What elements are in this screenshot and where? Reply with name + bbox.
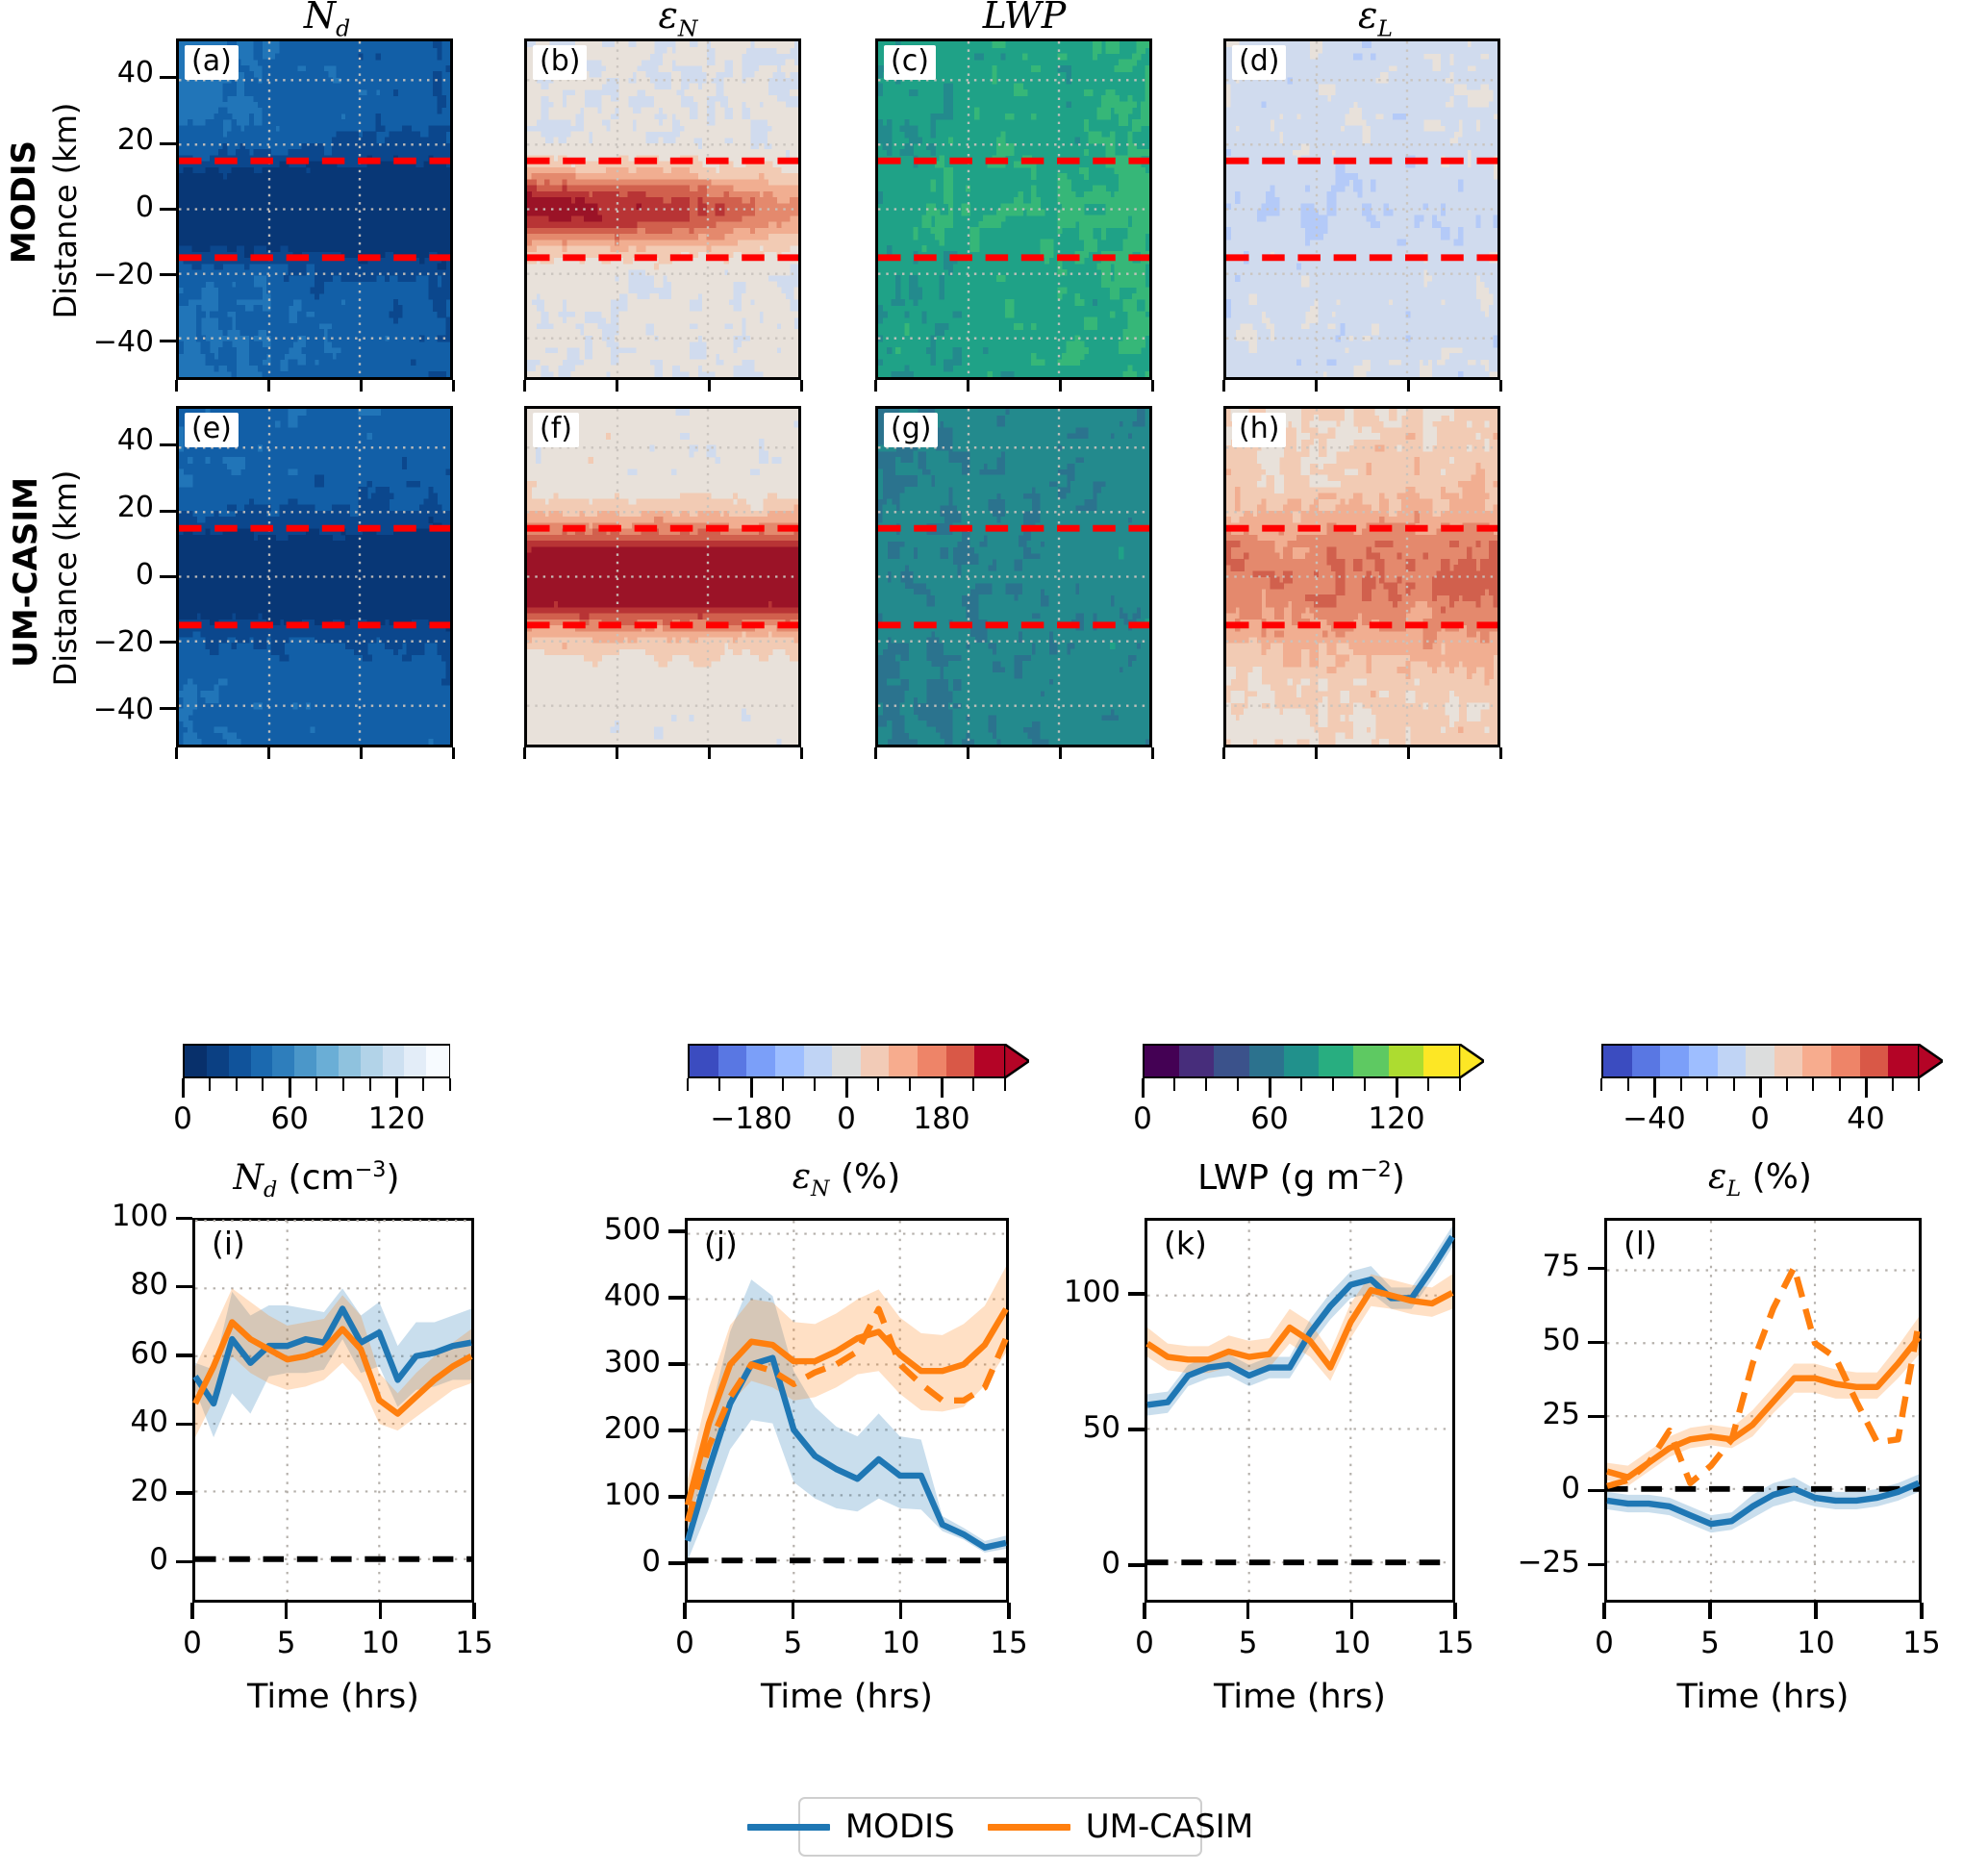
x-tickmark <box>175 747 178 759</box>
y-tickmark <box>176 1560 192 1564</box>
figure-legend[interactable]: MODIS UM-CASIM <box>798 1797 1202 1857</box>
contour-panel-c: (c) <box>875 38 1152 380</box>
y-tickmark <box>668 1561 685 1565</box>
colorbar-tick <box>1427 1078 1429 1091</box>
colorbar-segment <box>1660 1046 1689 1076</box>
colorbar-tick <box>1364 1078 1366 1091</box>
x-tickmark <box>175 380 178 392</box>
colorbar-tick <box>1706 1078 1708 1091</box>
x-tickmark <box>1602 1603 1606 1619</box>
x-tickmark <box>1920 1603 1924 1619</box>
colorbar-segment <box>1179 1046 1215 1076</box>
x-tickmark <box>1151 747 1154 759</box>
y-tick-label: 75 <box>1412 1249 1580 1283</box>
colorbar-3: −40040εL (%) <box>1601 1044 1951 1198</box>
x-axis-label-time: Time (hrs) <box>674 1678 1020 1716</box>
colorbar-segment <box>1319 1046 1354 1076</box>
x-tick-label: 5 <box>1191 1626 1306 1660</box>
colorbar-title-1: εN (%) <box>635 1157 1058 1202</box>
colorbar-segment <box>889 1046 918 1076</box>
colorbar-segment <box>946 1046 975 1076</box>
x-tickmark <box>1222 380 1225 392</box>
x-tick-label: 5 <box>1652 1626 1768 1660</box>
contour-panel-h: (h) <box>1223 406 1500 747</box>
x-tickmark <box>472 1603 476 1619</box>
line-panel-l: (l) <box>1604 1218 1922 1603</box>
y-tick-label: 80 <box>0 1267 168 1302</box>
colorbar-segment <box>229 1046 251 1076</box>
x-tickmark <box>708 380 711 392</box>
colorbar-tick <box>182 1078 185 1098</box>
y-tickmark <box>176 1423 192 1427</box>
contour-panel-e: (e) <box>176 406 453 747</box>
panel-tag-g: (g) <box>884 413 938 447</box>
y-tick-row2-m40: −40 <box>60 693 154 726</box>
colorbar-segment <box>1214 1046 1249 1076</box>
y-tickmark <box>1588 1563 1604 1567</box>
y-tickmark <box>160 575 176 578</box>
y-tickmark <box>160 641 176 644</box>
colorbar-tick <box>782 1078 784 1091</box>
colorbar-tick <box>236 1078 238 1091</box>
y-tick-label: 100 <box>952 1275 1120 1309</box>
colorbar-tick <box>1142 1078 1145 1098</box>
x-tick-label: 0 <box>627 1626 742 1660</box>
colorbar-tick <box>1653 1078 1656 1098</box>
x-tickmark <box>523 747 526 759</box>
colorbar-title-3: εL (%) <box>1548 1157 1972 1202</box>
colorbar-segment <box>690 1046 718 1076</box>
colorbar-extend-arrow <box>1459 1044 1484 1078</box>
x-tickmark <box>800 380 803 392</box>
y-tick-row2-40: 40 <box>77 423 154 457</box>
colorbar-tick <box>1269 1078 1271 1098</box>
y-tick-label: 0 <box>1412 1471 1580 1505</box>
colorbar-segment <box>251 1046 273 1076</box>
x-tickmark <box>1315 747 1318 759</box>
colorbar-segment <box>383 1046 405 1076</box>
y-tickmark <box>1128 1292 1145 1296</box>
line-panel-k: (k) <box>1145 1218 1455 1603</box>
colorbar-gradient-0 <box>183 1044 450 1078</box>
column-title-eps-n: εN <box>539 0 818 42</box>
colorbar-tick <box>315 1078 317 1091</box>
colorbar-tick <box>1332 1078 1334 1091</box>
x-tick-label: 10 <box>1294 1626 1409 1660</box>
colorbar-tick <box>1839 1078 1841 1091</box>
y-tick-row1-20: 20 <box>77 123 154 157</box>
x-tick-label: 15 <box>1397 1626 1513 1660</box>
x-tickmark <box>616 380 618 392</box>
colorbar-extend-arrow <box>1004 1044 1029 1078</box>
legend-label-um-casim: UM-CASIM <box>1086 1808 1253 1846</box>
y-tickmark <box>668 1229 685 1233</box>
x-tickmark <box>452 747 455 759</box>
x-tickmark <box>1350 1603 1354 1619</box>
x-tickmark <box>267 380 270 392</box>
x-tickmark <box>190 1603 194 1619</box>
y-tickmark <box>176 1285 192 1289</box>
colorbar-segment <box>1831 1046 1860 1076</box>
colorbar-segment <box>1746 1046 1774 1076</box>
x-tick-label: 10 <box>843 1626 959 1660</box>
y-tickmark <box>668 1429 685 1432</box>
x-tickmark <box>360 747 363 759</box>
y-tick-row1-0: 0 <box>77 190 154 224</box>
y-tick-label: 0 <box>0 1542 168 1577</box>
x-tick-label: 15 <box>951 1626 1067 1660</box>
x-tickmark <box>1222 747 1225 759</box>
line-panel-i: (i) <box>192 1218 474 1603</box>
colorbar-tick <box>1173 1078 1175 1091</box>
colorbar-tick <box>941 1078 944 1098</box>
x-tickmark <box>1407 380 1410 392</box>
legend-item-modis[interactable]: MODIS <box>747 1808 955 1846</box>
colorbar-segment <box>185 1046 207 1076</box>
colorbar-extend-arrow <box>1918 1044 1943 1078</box>
colorbar-tick <box>687 1078 689 1091</box>
y-tickmark <box>160 443 176 446</box>
colorbar-segment <box>974 1046 1003 1076</box>
x-tick-label: 0 <box>1087 1626 1202 1660</box>
colorbar-tick <box>262 1078 264 1091</box>
y-tick-row1-40: 40 <box>77 56 154 89</box>
colorbar-tick <box>1680 1078 1682 1091</box>
x-tickmark <box>967 747 969 759</box>
x-tick-label: 15 <box>416 1626 532 1660</box>
x-tickmark <box>616 747 618 759</box>
contour-panel-f: (f) <box>524 406 801 747</box>
legend-line-um-casim <box>988 1824 1070 1831</box>
colorbar-segment <box>1718 1046 1747 1076</box>
x-tickmark <box>523 380 526 392</box>
x-tickmark <box>1499 380 1502 392</box>
colorbar-segment <box>1689 1046 1718 1076</box>
contour-panel-d: (d) <box>1223 38 1500 380</box>
y-tickmark <box>160 76 176 79</box>
row-label-um-casim: UM-CASIM <box>7 486 45 659</box>
colorbar-tick <box>1627 1078 1629 1091</box>
x-tickmark <box>1059 380 1062 392</box>
y-tickmark <box>1588 1341 1604 1345</box>
colorbar-segment <box>404 1046 426 1076</box>
colorbar-segment <box>272 1046 294 1076</box>
x-tick-label: 5 <box>735 1626 850 1660</box>
colorbar-tick <box>1396 1078 1398 1098</box>
y-tickmark <box>176 1217 192 1221</box>
y-tick-label: 25 <box>1412 1397 1580 1431</box>
colorbar-segment <box>1802 1046 1831 1076</box>
colorbar-segment <box>918 1046 946 1076</box>
colorbar-segment <box>1632 1046 1661 1076</box>
colorbar-segment <box>1249 1046 1285 1076</box>
x-tickmark <box>874 747 877 759</box>
colorbar-tick <box>422 1078 424 1091</box>
colorbar-segment <box>1774 1046 1803 1076</box>
panel-tag-i: (i) <box>205 1227 252 1264</box>
panel-tag-l: (l) <box>1617 1227 1664 1264</box>
colorbar-tick <box>342 1078 344 1091</box>
colorbar-segment <box>746 1046 775 1076</box>
colorbar-tick <box>972 1078 974 1091</box>
y-tick-row1-m20: −20 <box>60 258 154 291</box>
contour-panel-g: (g) <box>875 406 1152 747</box>
colorbar-tick-label: 120 <box>319 1101 473 1136</box>
x-tickmark <box>792 1603 795 1619</box>
colorbar-tick <box>1733 1078 1735 1091</box>
colorbar-segment <box>1603 1046 1632 1076</box>
colorbar-segment <box>861 1046 890 1076</box>
y-tick-row2-0: 0 <box>77 558 154 592</box>
colorbar-gradient-3 <box>1601 1044 1919 1078</box>
colorbar-tick-label: 180 <box>865 1101 1019 1136</box>
panel-tag-d: (d) <box>1232 45 1286 80</box>
y-tick-label: 500 <box>492 1212 661 1247</box>
y-tick-label: 50 <box>1412 1323 1580 1357</box>
colorbar-2: 060120LWP (g m−2) <box>1143 1044 1493 1198</box>
y-tick-label: 0 <box>492 1544 661 1579</box>
legend-item-um-casim[interactable]: UM-CASIM <box>988 1808 1253 1846</box>
colorbar-tick <box>1459 1078 1461 1091</box>
y-tickmark <box>160 273 176 276</box>
y-tick-row2-20: 20 <box>77 491 154 524</box>
y-tickmark <box>160 142 176 145</box>
y-tickmark <box>176 1353 192 1357</box>
x-axis-label-time: Time (hrs) <box>1590 1678 1936 1716</box>
y-tickmark <box>1588 1489 1604 1493</box>
colorbar-1: −1800180εN (%) <box>688 1044 1038 1198</box>
column-title-lwp: LWP <box>885 0 1164 37</box>
y-tickmark <box>160 208 176 211</box>
panel-tag-e: (e) <box>185 413 239 447</box>
y-tickmark <box>668 1495 685 1499</box>
colorbar-segment <box>294 1046 316 1076</box>
colorbar-tick <box>718 1078 720 1091</box>
colorbar-tick <box>1759 1078 1762 1098</box>
x-tickmark <box>1453 1603 1457 1619</box>
panel-tag-k: (k) <box>1157 1227 1214 1264</box>
colorbar-tick <box>1918 1078 1920 1091</box>
x-tickmark <box>452 380 455 392</box>
y-tick-row1-m40: −40 <box>60 325 154 359</box>
colorbar-0: 060120Nd (cm−3) <box>183 1044 483 1198</box>
y-tick-label: 200 <box>492 1411 661 1446</box>
x-tickmark <box>379 1603 383 1619</box>
x-tickmark <box>267 747 270 759</box>
colorbar-tick <box>1004 1078 1006 1091</box>
colorbar-tick <box>1300 1078 1302 1091</box>
colorbar-tick <box>1812 1078 1814 1091</box>
panel-tag-b: (b) <box>533 45 587 80</box>
colorbar-gradient-2 <box>1143 1044 1460 1078</box>
colorbar-tick <box>1205 1078 1207 1091</box>
y-tick-label: 400 <box>492 1278 661 1313</box>
x-tickmark <box>1407 747 1410 759</box>
colorbar-tick <box>750 1078 753 1098</box>
colorbar-segment <box>718 1046 747 1076</box>
x-tickmark <box>1059 747 1062 759</box>
x-tickmark <box>1315 380 1318 392</box>
colorbar-segment <box>1353 1046 1389 1076</box>
colorbar-segment <box>361 1046 383 1076</box>
y-tick-label: 40 <box>0 1404 168 1439</box>
colorbar-tick-label: 120 <box>1320 1101 1473 1136</box>
x-tickmark <box>1143 1603 1146 1619</box>
y-tickmark <box>1128 1428 1145 1431</box>
x-tickmark <box>967 380 969 392</box>
y-tickmark <box>160 340 176 342</box>
colorbar-tick <box>877 1078 879 1091</box>
colorbar-tick <box>814 1078 816 1091</box>
colorbar-tick <box>449 1078 451 1091</box>
colorbar-segment <box>1145 1046 1180 1076</box>
legend-label-modis: MODIS <box>845 1808 955 1846</box>
x-tickmark <box>360 380 363 392</box>
colorbar-tick <box>909 1078 911 1091</box>
column-title-nd: Nd <box>188 0 466 42</box>
colorbar-tick <box>1600 1078 1602 1091</box>
panel-tag-f: (f) <box>533 413 579 447</box>
x-tick-label: 0 <box>1547 1626 1662 1660</box>
colorbar-tick <box>395 1078 398 1098</box>
x-tick-label: 15 <box>1864 1626 1979 1660</box>
colorbar-tick <box>369 1078 371 1091</box>
x-tickmark <box>1814 1603 1818 1619</box>
y-tick-label: 100 <box>492 1478 661 1512</box>
colorbar-segment <box>316 1046 339 1076</box>
y-tickmark <box>1128 1563 1145 1567</box>
x-tickmark <box>683 1603 687 1619</box>
panel-tag-c: (c) <box>884 45 936 80</box>
colorbar-title-2: LWP (g m−2) <box>1090 1157 1513 1198</box>
colorbar-tick <box>1786 1078 1788 1091</box>
colorbar-tick <box>289 1078 291 1098</box>
panel-tag-j: (j) <box>697 1227 744 1264</box>
y-tickmark <box>668 1362 685 1366</box>
colorbar-tick <box>845 1078 848 1098</box>
panel-tag-h: (h) <box>1232 413 1286 447</box>
panel-tag-a: (a) <box>185 45 239 80</box>
colorbar-segment <box>1888 1046 1917 1076</box>
y-tick-row2-m20: −20 <box>60 625 154 659</box>
y-tick-label: 20 <box>0 1474 168 1508</box>
colorbar-segment <box>426 1046 448 1076</box>
colorbar-segment <box>1389 1046 1424 1076</box>
colorbar-segment <box>339 1046 361 1076</box>
x-tickmark <box>874 380 877 392</box>
colorbar-segment <box>1860 1046 1889 1076</box>
y-tick-label: 300 <box>492 1345 661 1379</box>
x-tickmark <box>899 1603 903 1619</box>
colorbar-tick <box>209 1078 211 1091</box>
x-axis-label-time: Time (hrs) <box>161 1678 507 1716</box>
contour-panel-a: (a) <box>176 38 453 380</box>
x-tickmark <box>1499 747 1502 759</box>
x-tickmark <box>1007 1603 1011 1619</box>
colorbar-gradient-1 <box>688 1044 1005 1078</box>
colorbar-title-0: Nd (cm−3) <box>105 1157 528 1202</box>
y-tickmark <box>1588 1267 1604 1271</box>
y-tick-label: 0 <box>952 1546 1120 1581</box>
figure-root: MODIS UM-CASIM Nd εN LWP εL Distance (km… <box>0 0 1988 1872</box>
colorbar-tick <box>1892 1078 1894 1091</box>
colorbar-segment <box>832 1046 861 1076</box>
row-label-modis: MODIS <box>5 135 43 269</box>
colorbar-segment <box>804 1046 833 1076</box>
column-title-eps-l: εL <box>1236 0 1515 42</box>
x-tickmark <box>285 1603 289 1619</box>
colorbar-tick <box>1865 1078 1868 1098</box>
colorbar-segment <box>1284 1046 1320 1076</box>
x-tickmark <box>708 747 711 759</box>
y-tickmark <box>160 707 176 710</box>
x-tickmark <box>1708 1603 1712 1619</box>
x-tickmark <box>1246 1603 1250 1619</box>
x-tickmark <box>800 747 803 759</box>
x-tick-label: 10 <box>1758 1626 1874 1660</box>
contour-panel-b: (b) <box>524 38 801 380</box>
y-tickmark <box>160 510 176 513</box>
x-tickmark <box>1151 380 1154 392</box>
legend-line-modis <box>747 1824 830 1831</box>
colorbar-segment <box>207 1046 229 1076</box>
colorbar-segment <box>775 1046 804 1076</box>
y-tick-label: −25 <box>1412 1545 1580 1580</box>
colorbar-tick <box>1237 1078 1239 1091</box>
y-tickmark <box>176 1491 192 1495</box>
y-tick-label: 50 <box>952 1410 1120 1445</box>
y-tick-label: 60 <box>0 1336 168 1371</box>
y-tick-label: 100 <box>0 1199 168 1233</box>
y-tickmark <box>668 1296 685 1300</box>
colorbar-tick-label: 40 <box>1789 1101 1943 1136</box>
y-tickmark <box>1588 1415 1604 1419</box>
colorbar-segment <box>1423 1046 1459 1076</box>
x-axis-label-time: Time (hrs) <box>1127 1678 1473 1716</box>
